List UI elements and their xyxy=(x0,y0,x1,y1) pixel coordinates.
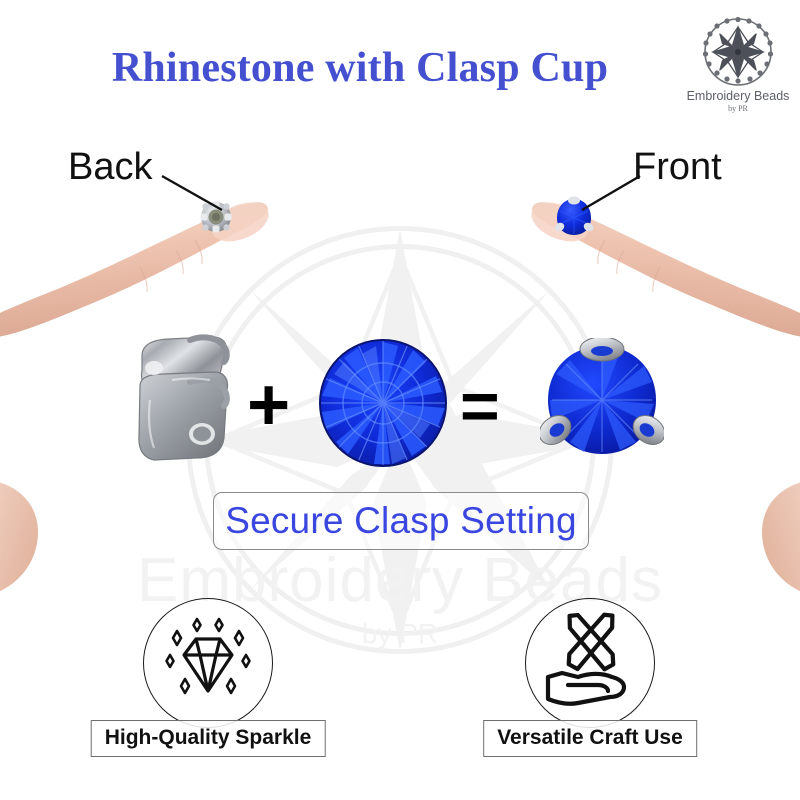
diamond-sparkle-icon xyxy=(156,611,260,715)
eight-point-star-mandala-icon xyxy=(703,17,773,85)
secure-clasp-setting-label: Secure Clasp Setting xyxy=(225,500,577,542)
logo-brand-name: Embroidery Beads xyxy=(687,89,790,103)
feature-badge-craft: Versatile Craft Use xyxy=(440,598,740,728)
sparkle-badge-caption: High-Quality Sparkle xyxy=(91,720,326,757)
page-title: Rhinestone with Clasp Cup xyxy=(0,44,720,92)
logo-tagline: by PR xyxy=(728,104,748,113)
craft-badge-circle xyxy=(525,598,655,728)
callout-front-leader-line xyxy=(578,172,644,214)
hand-with-pencil-icon xyxy=(538,611,642,715)
secure-clasp-setting-box: Secure Clasp Setting xyxy=(213,492,589,550)
craft-badge-caption: Versatile Craft Use xyxy=(483,720,697,757)
callout-back-label: Back xyxy=(68,146,152,189)
equation-loose-rhinestone xyxy=(318,338,448,473)
brand-logo: Embroidery Beads by PR xyxy=(686,12,790,116)
equation-equals-operator: = xyxy=(460,372,500,440)
equation-finished-rhinestone xyxy=(540,338,664,469)
fingertip-bottom-left xyxy=(0,470,106,610)
feature-badge-sparkle: High-Quality Sparkle xyxy=(58,598,358,728)
callout-front-label: Front xyxy=(633,146,722,189)
equation-clasp-cup xyxy=(128,330,240,475)
product-infographic: Embroidery Beads by PR Rhinestone with C… xyxy=(0,0,800,800)
sparkle-badge-circle xyxy=(143,598,273,728)
callout-back-leader-line xyxy=(160,172,230,214)
equation-plus-operator: + xyxy=(247,368,290,442)
fingertip-top-left xyxy=(0,188,280,348)
sparkle-badge-label: High-Quality Sparkle xyxy=(105,726,312,749)
craft-badge-label: Versatile Craft Use xyxy=(497,726,683,749)
fingertip-bottom-right xyxy=(694,470,800,610)
